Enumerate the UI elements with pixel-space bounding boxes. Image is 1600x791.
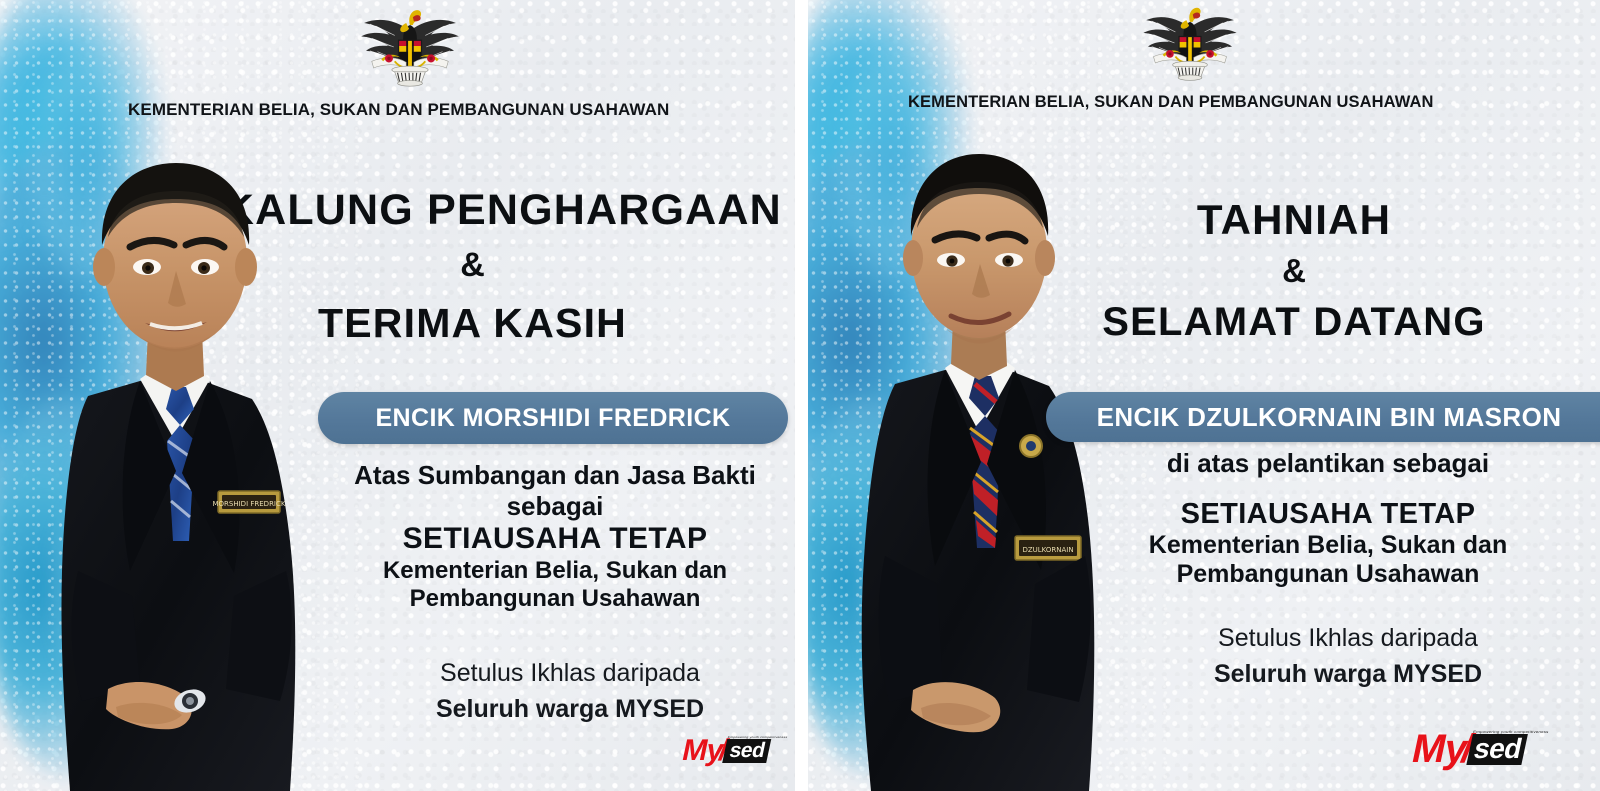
- citation-line-2: sebagai: [310, 491, 795, 522]
- honoree-name-right: ENCIK DZULKORNAIN BIN MASRON: [1097, 402, 1562, 433]
- signoff-left: Setulus Ikhlas daripada Seluruh warga MY…: [340, 655, 795, 728]
- citation-line-3: SETIAUSAHA TETAP: [310, 521, 795, 556]
- signoff-right: Setulus Ikhlas daripada Seluruh warga MY…: [1098, 620, 1598, 693]
- portrait-photo-left: MORSHIDI FREDRICK: [0, 141, 335, 791]
- ministry-title-right: KEMENTERIAN BELIA, SUKAN DAN PEMBANGUNAN…: [908, 93, 1434, 112]
- citation-line-5: Pembangunan Usahawan: [310, 585, 795, 613]
- panel-divider: [795, 0, 808, 791]
- svg-text:MORSHIDI FREDRICK: MORSHIDI FREDRICK: [213, 500, 286, 508]
- mysed-logo-sed: sed: [1466, 734, 1528, 765]
- citation-line-3: Kementerian Belia, Sukan dan: [1068, 531, 1588, 561]
- poster-canvas: KEMENTERIAN BELIA, SUKAN DAN PEMBANGUNAN…: [0, 0, 1600, 791]
- signoff-line-2: Seluruh warga MYSED: [1098, 656, 1598, 692]
- portrait-photo-right: DZULKORNAIN: [808, 136, 1113, 791]
- ministry-title-left: KEMENTERIAN BELIA, SUKAN DAN PEMBANGUNAN…: [128, 100, 669, 120]
- citation-line-1: Atas Sumbangan dan Jasa Bakti: [310, 460, 795, 491]
- citation-line-2: SETIAUSAHA TETAP: [1068, 497, 1588, 531]
- sarawak-coat-of-arms-icon: [352, 2, 468, 90]
- signoff-line-1: Setulus Ikhlas daripada: [1098, 620, 1598, 656]
- honoree-name-banner-right: ENCIK DZULKORNAIN BIN MASRON: [1046, 392, 1600, 442]
- citation-line-4: Pembangunan Usahawan: [1068, 560, 1588, 590]
- congratulation-card-right: KEMENTERIAN BELIA, SUKAN DAN PEMBANGUNAN…: [808, 0, 1600, 791]
- mysed-logo-left: My / Empowering youth competitiveness se…: [680, 736, 788, 763]
- svg-text:DZULKORNAIN: DZULKORNAIN: [1022, 546, 1073, 554]
- citation-body-right: di atas pelantikan sebagai SETIAUSAHA TE…: [1068, 448, 1588, 590]
- signoff-line-2: Seluruh warga MYSED: [340, 691, 795, 727]
- citation-body-left: Atas Sumbangan dan Jasa Bakti sebagai SE…: [310, 460, 795, 613]
- mysed-logo-tagline: Empowering youth competitiveness: [1473, 730, 1549, 734]
- citation-line-1: di atas pelantikan sebagai: [1068, 448, 1588, 479]
- sarawak-coat-of-arms-icon: [1135, 0, 1245, 84]
- mysed-logo-right: My / Empowering youth competitiveness se…: [1409, 730, 1549, 765]
- appreciation-card-left: KEMENTERIAN BELIA, SUKAN DAN PEMBANGUNAN…: [0, 0, 795, 791]
- mysed-logo-tagline: Empowering youth competitiveness: [727, 736, 787, 739]
- honoree-name-left: ENCIK MORSHIDI FREDRICK: [375, 404, 730, 433]
- signoff-line-1: Setulus Ikhlas daripada: [340, 655, 795, 691]
- citation-line-4: Kementerian Belia, Sukan dan: [310, 557, 795, 585]
- honoree-name-banner-left: ENCIK MORSHIDI FREDRICK: [318, 392, 788, 444]
- mysed-logo-sed: sed: [722, 739, 771, 763]
